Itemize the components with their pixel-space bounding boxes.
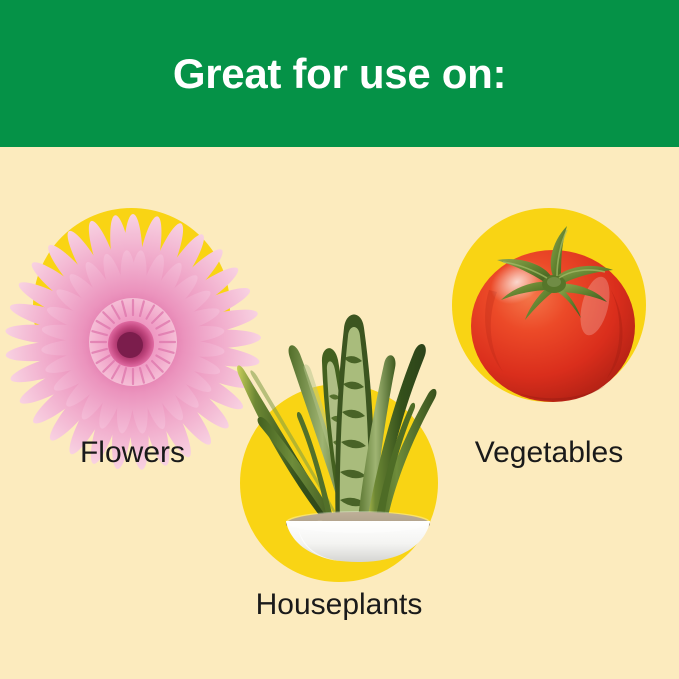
flowers-caption: Flowers xyxy=(0,438,265,468)
promo-panel: Great for use on: xyxy=(0,0,679,679)
header-band: Great for use on: xyxy=(0,0,679,147)
vegetables-caption: Vegetables xyxy=(414,438,679,468)
page-title: Great for use on: xyxy=(173,53,506,95)
houseplants-caption: Houseplants xyxy=(209,590,469,620)
houseplants-badge-circle xyxy=(240,384,438,582)
flowers-badge-circle xyxy=(33,208,230,405)
vegetables-badge-circle xyxy=(452,208,646,402)
